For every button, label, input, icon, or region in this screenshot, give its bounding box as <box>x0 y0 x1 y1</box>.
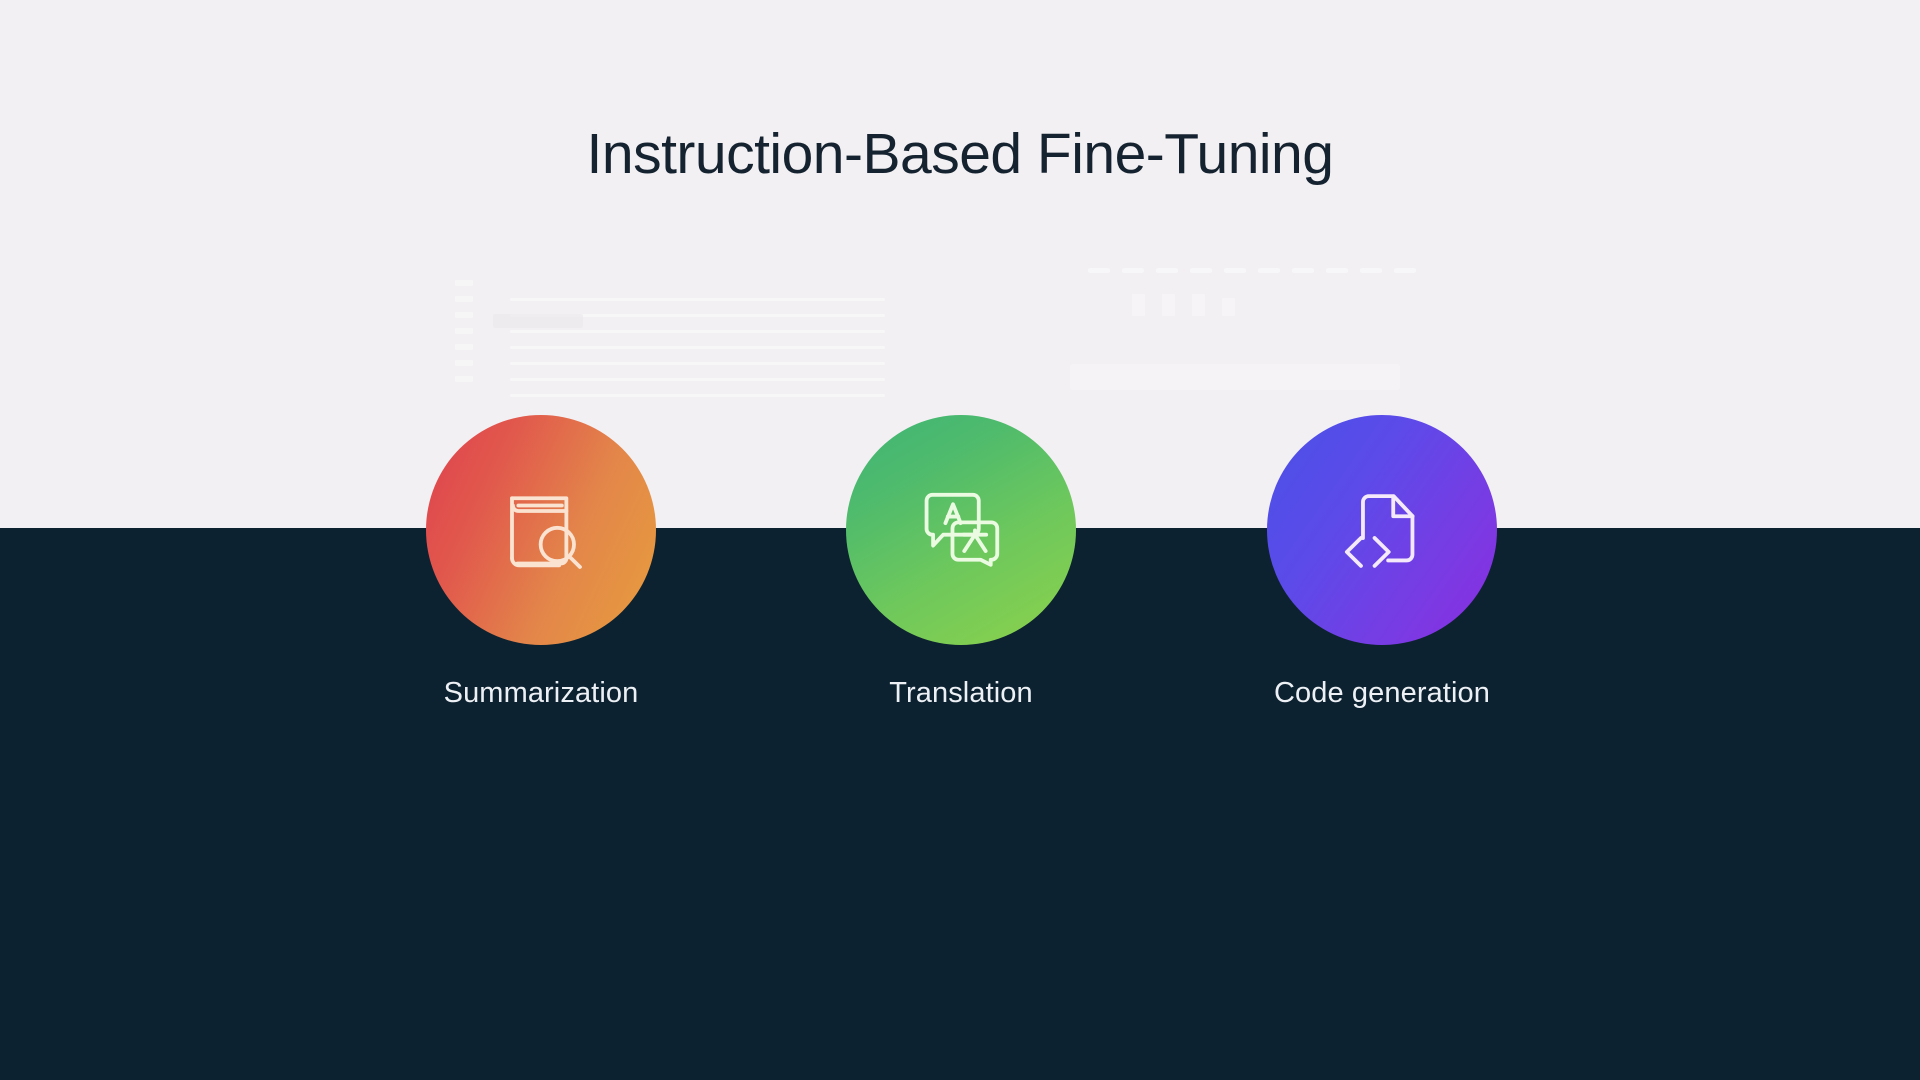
capability-item-code-generation[interactable]: Code generation <box>1232 415 1532 710</box>
translate-speech-bubbles-icon <box>903 472 1019 588</box>
capability-item-summarization[interactable]: Summarization <box>391 415 691 710</box>
capability-cluster: Summarization Translation <box>0 0 1920 1080</box>
summarization-icon-circle[interactable] <box>426 415 656 645</box>
capability-label-code-generation: Code generation <box>1232 677 1532 710</box>
book-search-icon <box>483 472 599 588</box>
capability-item-translation[interactable]: Translation <box>811 415 1111 710</box>
code-document-icon <box>1324 472 1440 588</box>
translation-icon-circle[interactable] <box>846 415 1076 645</box>
capability-label-translation: Translation <box>811 677 1111 710</box>
slide-canvas: Instruction-Based Fine-Tuning Summ <box>0 0 1920 1080</box>
code-generation-icon-circle[interactable] <box>1267 415 1497 645</box>
capability-label-summarization: Summarization <box>391 677 691 710</box>
